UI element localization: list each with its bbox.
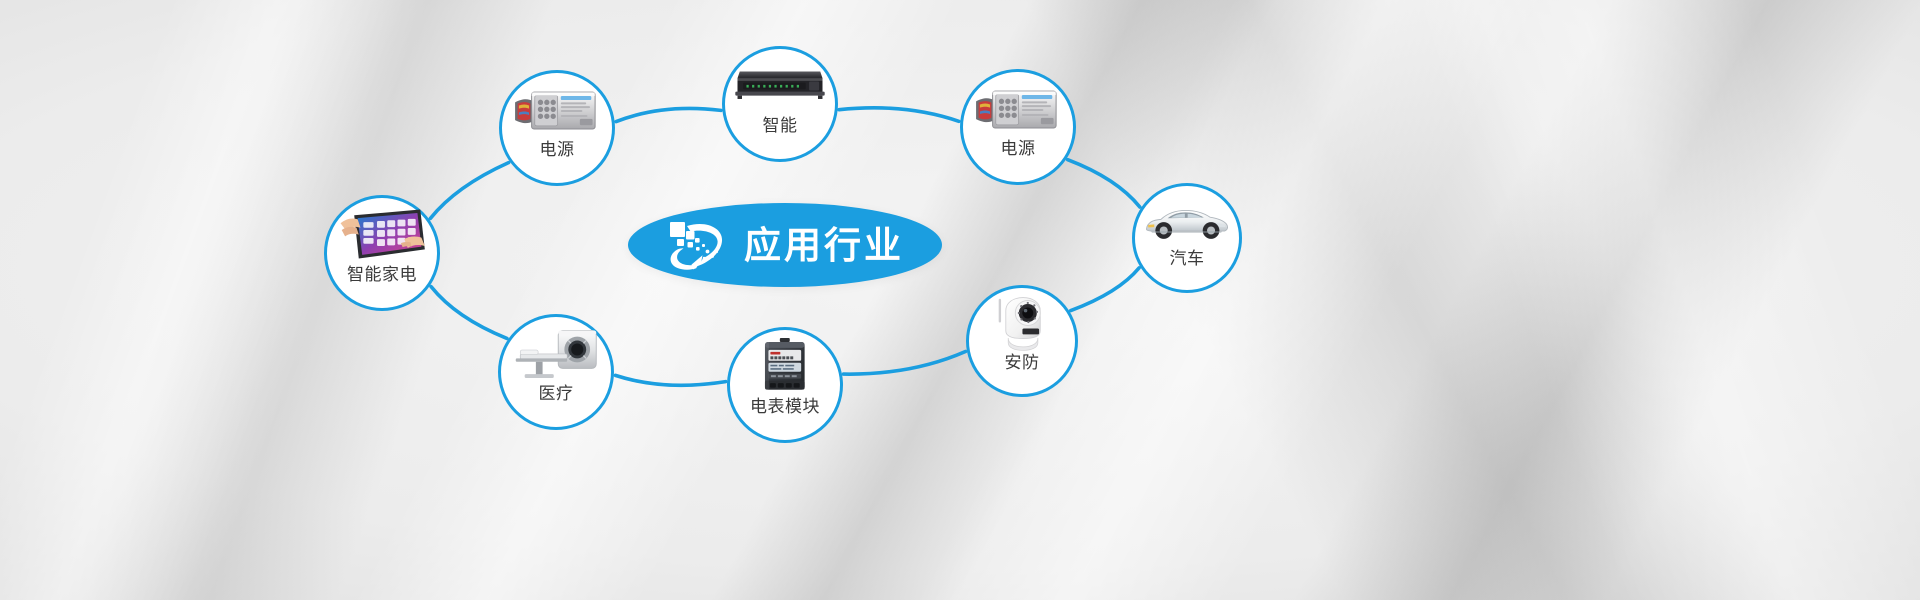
tablet-touch-icon [327, 205, 437, 267]
link-security-to-meter-module [844, 352, 966, 375]
node-smart-home[interactable]: 智能家电 [324, 195, 440, 311]
node-smart[interactable]: 智能 [722, 46, 838, 162]
node-label: 安防 [1005, 355, 1040, 372]
node-security[interactable]: 安防 [966, 285, 1078, 397]
link-smart-home-to-power-left [430, 163, 508, 219]
link-meter-module-to-medical [615, 375, 725, 385]
link-smart-to-power-right [839, 108, 959, 121]
center-badge-label: 应用行业 [744, 227, 904, 264]
node-label: 智能 [763, 118, 798, 135]
node-label: 汽车 [1170, 251, 1205, 268]
node-automotive[interactable]: 汽车 [1132, 183, 1242, 293]
link-power-right-to-automotive [1068, 160, 1140, 207]
electric-meter-icon [730, 337, 840, 399]
node-power-left[interactable]: 电源 [499, 70, 615, 186]
node-label: 电源 [540, 142, 575, 159]
atx-power-supply-icon [502, 80, 612, 142]
node-meter-module[interactable]: 电表模块 [727, 327, 843, 443]
mri-scanner-icon [501, 324, 611, 386]
connector-links [0, 0, 1920, 600]
link-power-left-to-smart [616, 108, 721, 121]
link-medical-to-smart-home [431, 287, 507, 339]
node-medical[interactable]: 医疗 [498, 314, 614, 430]
link-automotive-to-security [1071, 268, 1139, 311]
application-industries-banner: 电源 智能 [0, 0, 1920, 600]
rack-server-icon [725, 56, 835, 118]
center-badge: 应用行业 [628, 203, 942, 287]
orbit-pixel-logo-icon [666, 217, 728, 273]
node-label: 电源 [1001, 141, 1036, 158]
ip-camera-icon [969, 294, 1075, 353]
sports-car-icon [1135, 192, 1239, 250]
node-label: 智能家电 [347, 267, 417, 284]
atx-power-supply-icon [963, 79, 1073, 141]
node-label: 电表模块 [750, 399, 820, 416]
node-power-right[interactable]: 电源 [960, 69, 1076, 185]
node-label: 医疗 [539, 386, 574, 403]
